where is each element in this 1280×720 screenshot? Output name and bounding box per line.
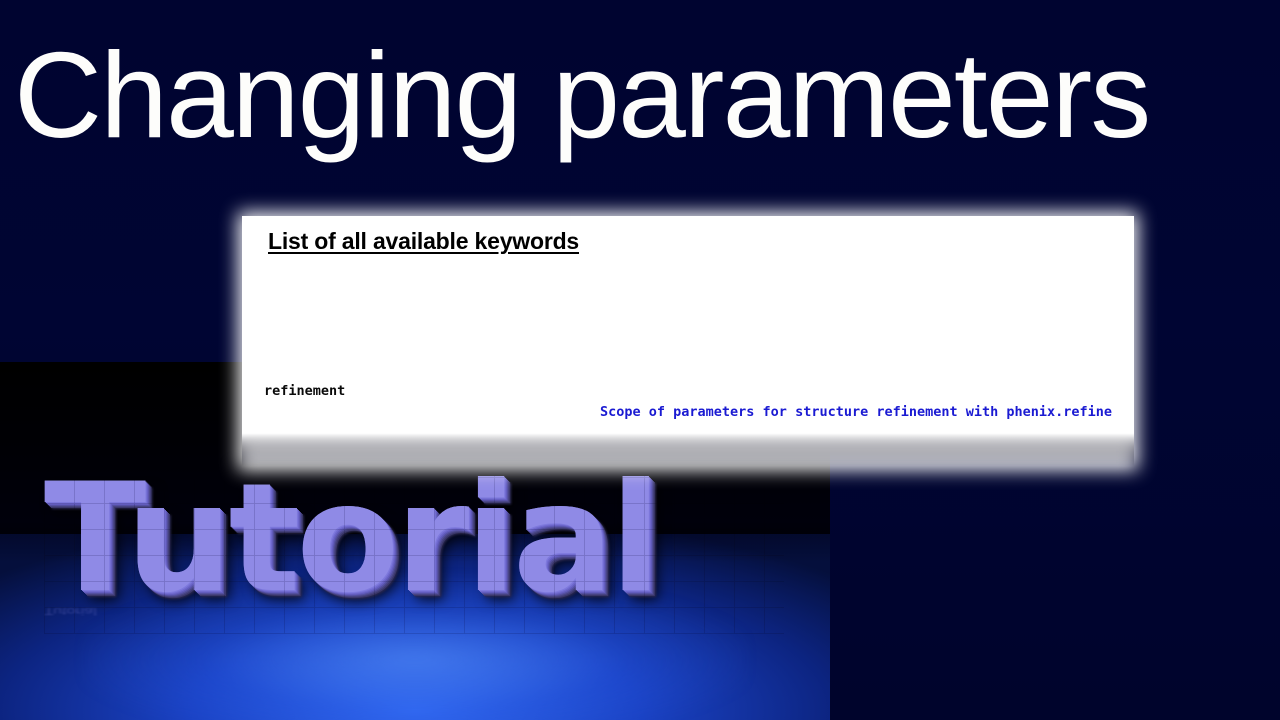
keyword-listing: refinement Scope of parameters for struc…: [242, 272, 1134, 466]
keyword-refinement: refinement: [264, 381, 345, 403]
listing-row: refinement Scope of parameters for struc…: [242, 359, 1134, 381]
panel-heading: List of all available keywords: [268, 228, 579, 255]
keywords-panel-wrapper: List of all available keywords refinemen…: [238, 212, 1138, 470]
keywords-panel: List of all available keywords refinemen…: [242, 216, 1134, 466]
page-title: Changing parameters: [14, 34, 1270, 156]
tutorial-word-reflection: Tutorial: [44, 548, 784, 616]
description-refinement: Scope of parameters for structure refine…: [600, 402, 1112, 424]
presentation-slide: Changing parameters Tutorial Tutorial Li…: [0, 0, 1280, 720]
tutorial-word-reflection-text: Tutorial: [44, 605, 97, 616]
